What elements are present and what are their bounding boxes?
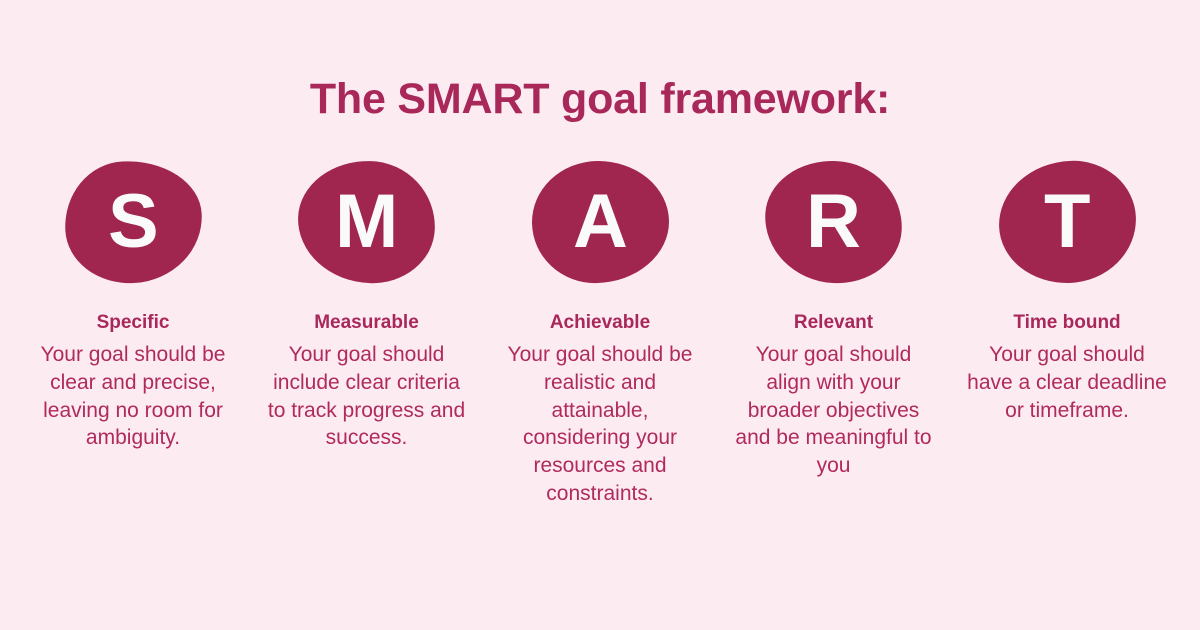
- smart-column-achievable: A Achievable Your goal should be realist…: [487, 159, 713, 507]
- blob-letter-a: A: [573, 184, 628, 260]
- column-description-achievable: Your goal should be realistic and attain…: [500, 341, 700, 507]
- smart-column-specific: S Specific Your goal should be clear and…: [20, 159, 246, 452]
- column-heading-specific: Specific: [97, 312, 170, 335]
- column-heading-time-bound: Time bound: [1013, 312, 1120, 335]
- column-heading-achievable: Achievable: [550, 312, 650, 335]
- letter-blob-r: R: [762, 157, 905, 286]
- smart-column-time-bound: T Time bound Your goal should have a cle…: [954, 159, 1180, 424]
- column-heading-measurable: Measurable: [314, 312, 419, 335]
- blob-letter-r: R: [806, 184, 861, 260]
- blob-wrapper-t: T: [954, 159, 1180, 284]
- column-description-time-bound: Your goal should have a clear deadline o…: [967, 341, 1167, 424]
- blob-letter-s: S: [108, 184, 159, 260]
- letter-blob-t: T: [996, 158, 1137, 285]
- smart-column-measurable: M Measurable Your goal should include cl…: [254, 159, 480, 452]
- blob-wrapper-s: S: [20, 159, 246, 284]
- blob-letter-m: M: [335, 184, 398, 260]
- page-title: The SMART goal framework:: [310, 76, 890, 123]
- blob-wrapper-a: A: [487, 159, 713, 284]
- column-description-measurable: Your goal should include clear criteria …: [267, 341, 467, 452]
- smart-columns-container: S Specific Your goal should be clear and…: [20, 159, 1180, 507]
- column-description-specific: Your goal should be clear and precise, l…: [33, 341, 233, 452]
- blob-letter-t: T: [1044, 184, 1090, 260]
- smart-column-relevant: R Relevant Your goal should align with y…: [721, 159, 947, 479]
- blob-wrapper-m: M: [254, 159, 480, 284]
- letter-blob-a: A: [530, 160, 669, 284]
- letter-blob-m: M: [296, 158, 437, 285]
- blob-wrapper-r: R: [721, 159, 947, 284]
- column-description-relevant: Your goal should align with your broader…: [734, 341, 934, 480]
- smart-goal-framework-poster: The SMART goal framework: S Specific You…: [0, 0, 1200, 630]
- letter-blob-s: S: [61, 157, 204, 286]
- column-heading-relevant: Relevant: [794, 312, 873, 335]
